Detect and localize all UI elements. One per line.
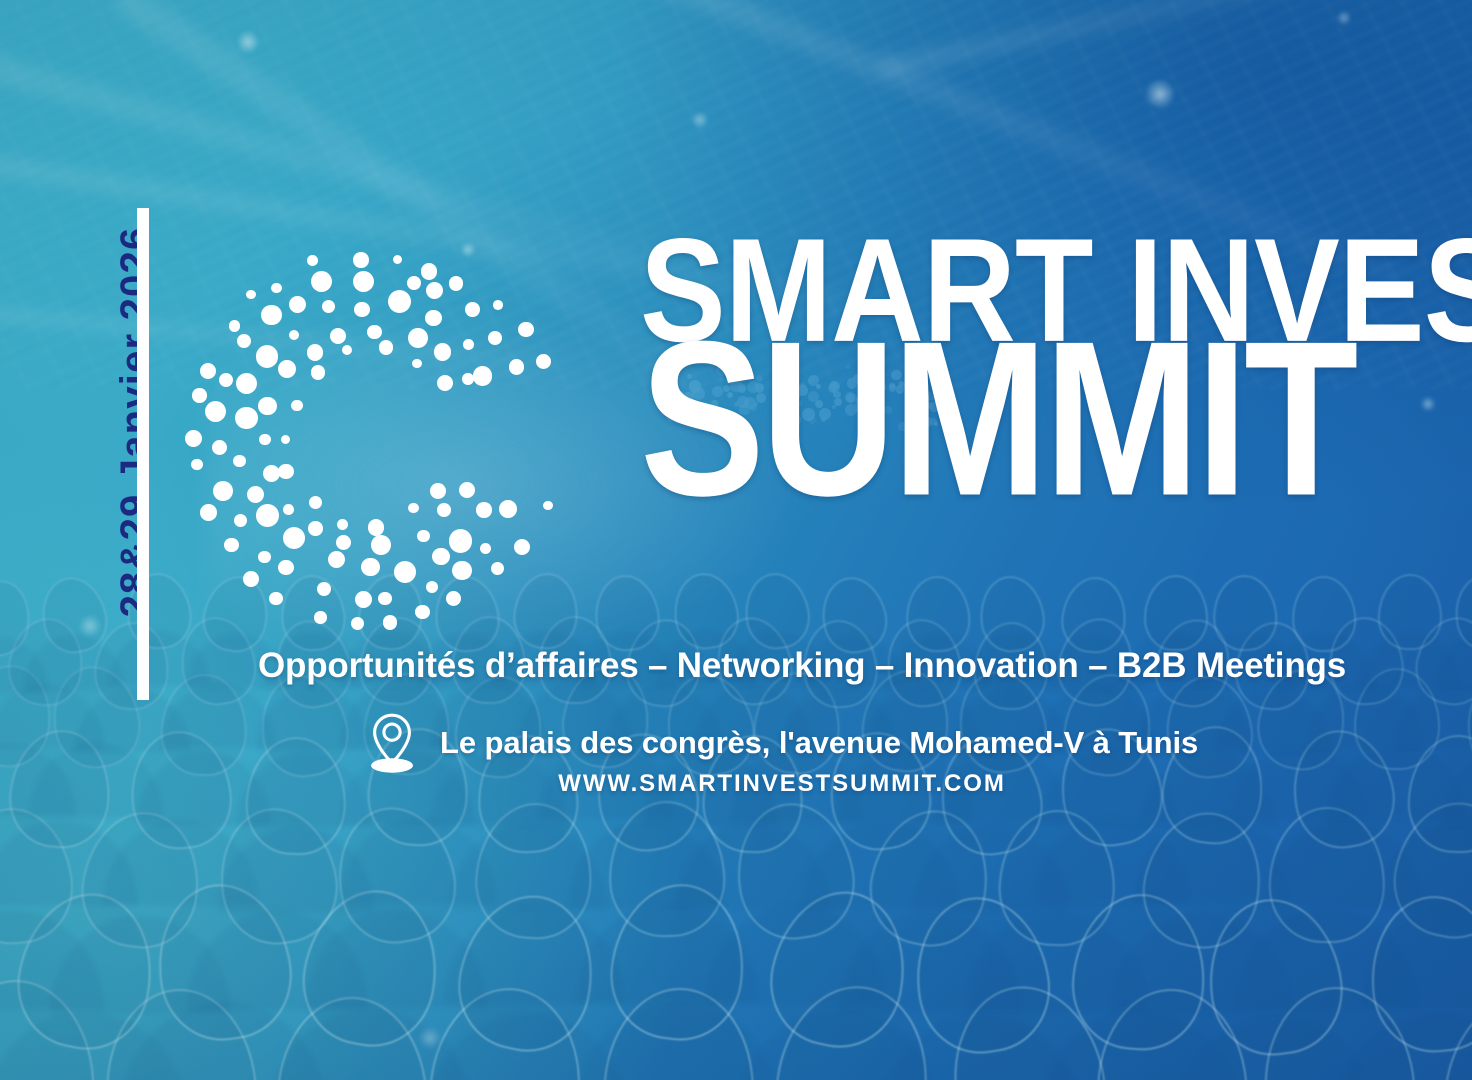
location-pin-icon [366,712,418,774]
vertical-divider [137,208,149,700]
venue-block: Le palais des congrès, l'avenue Mohamed-… [366,712,1198,774]
event-date-block: 28&29 Janvier 2026 [62,206,190,706]
event-wordmark: SMART INVEST SUMMIT [640,232,1430,483]
event-date: 28&29 Janvier 2026 [115,172,155,672]
venue-address: Le palais des congrès, l'avenue Mohamed-… [440,725,1198,761]
event-poster: 28&29 Janvier 2026 SMART INVEST SUMMIT O… [0,0,1472,1080]
title-line-two: SUMMIT [640,331,1418,507]
event-tagline: Opportunités d’affaires – Networking – I… [176,646,1428,686]
website-url[interactable]: WWW.SMARTINVESTSUMMIT.COM [0,770,1472,798]
dot-circle-logo-icon [176,240,568,636]
